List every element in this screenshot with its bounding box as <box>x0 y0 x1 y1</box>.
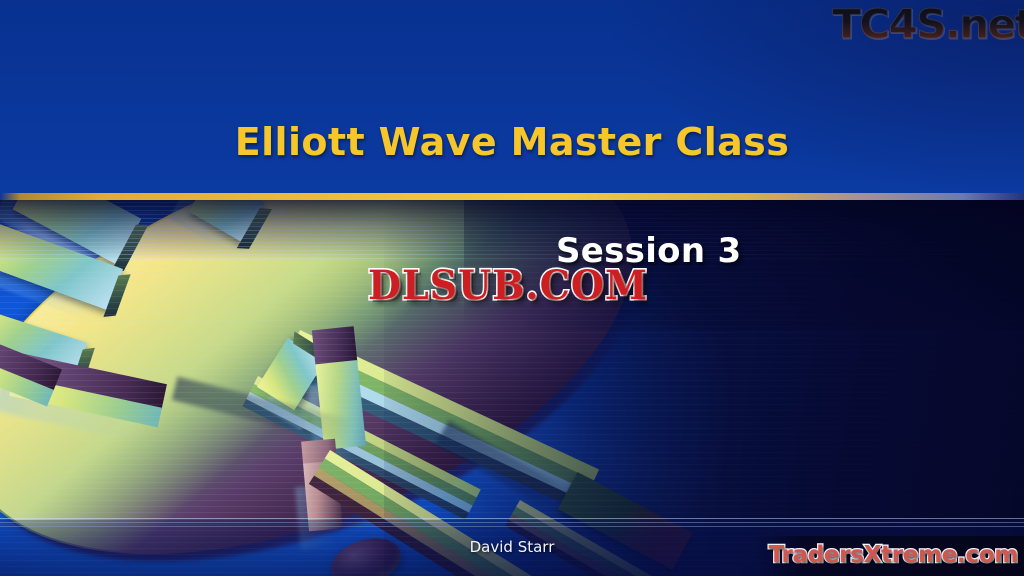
watermark-tradersxtreme: TradersXtreme.com <box>769 542 1018 568</box>
page-title: Elliott Wave Master Class <box>0 120 1024 164</box>
watermark-dlsub: DLSUB.COM <box>368 261 648 309</box>
presentation-slide: Elliott Wave Master Class <box>0 0 1024 576</box>
artwork-stage <box>0 200 1024 576</box>
watermark-tc4s: TC4S.net <box>832 2 1024 48</box>
